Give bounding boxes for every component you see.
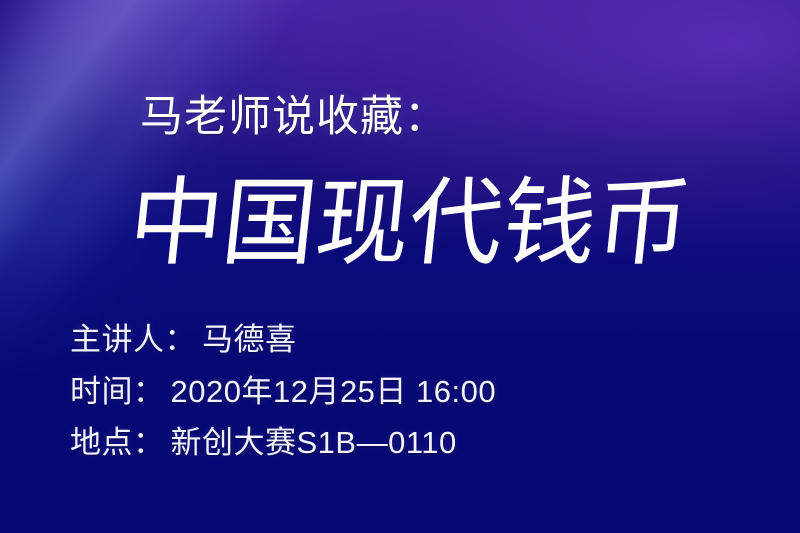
detail-time-label: 时间：: [70, 374, 165, 409]
series-kicker: 马老师说收藏：: [140, 96, 448, 139]
detail-location-label: 地点：: [70, 425, 165, 460]
detail-list: 主讲人：马德喜 时间：2020年12月25日 16:00 地点：新创大赛S1B—…: [70, 322, 496, 461]
detail-speaker-label: 主讲人：: [70, 322, 196, 357]
detail-speaker-value: 马德喜: [202, 322, 297, 357]
detail-location-value: 新创大赛S1B—0110: [171, 425, 457, 460]
hero-title: 中国现代钱币: [126, 172, 686, 280]
hero-title-calligraphy: 中国现代钱币: [126, 172, 686, 280]
event-poster-slide: 马老师说收藏： 中国现代钱币 主讲人：马德喜 时间：2020年12月25日 16…: [0, 0, 800, 533]
detail-location: 地点：新创大赛S1B—0110: [70, 425, 496, 461]
detail-speaker: 主讲人：马德喜: [70, 322, 496, 358]
poster-content: 马老师说收藏： 中国现代钱币 主讲人：马德喜 时间：2020年12月25日 16…: [0, 0, 800, 533]
detail-time: 时间：2020年12月25日 16:00: [70, 374, 496, 410]
detail-time-value: 2020年12月25日 16:00: [171, 374, 497, 409]
hero-title-text: 中国现代钱币: [126, 172, 686, 279]
